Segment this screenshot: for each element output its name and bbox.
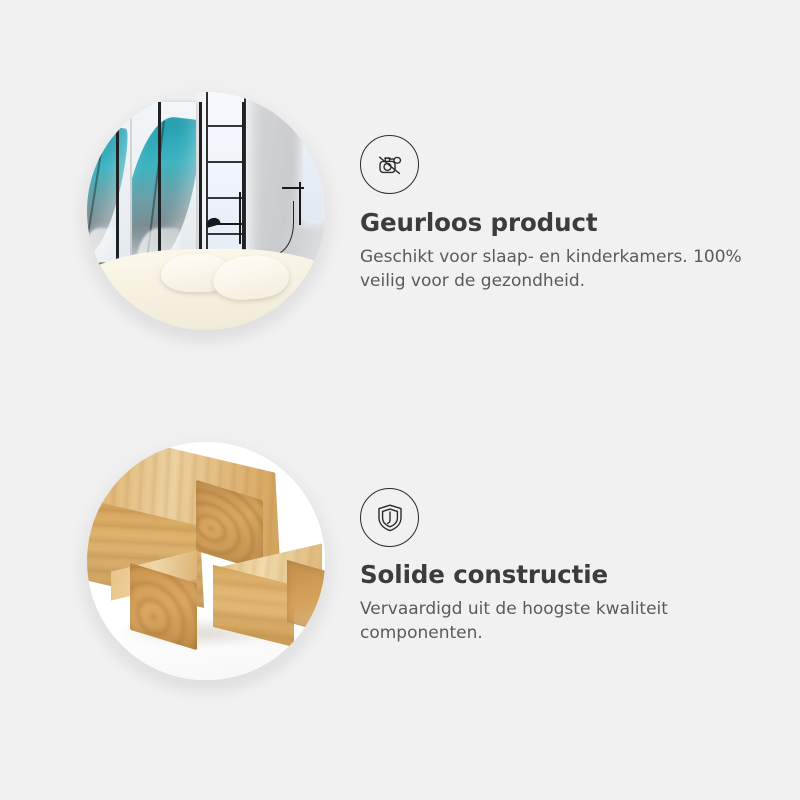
wall-lamp-stem (299, 182, 301, 225)
feature-image-bedroom (87, 92, 325, 330)
wall-lamp-stem (239, 192, 241, 244)
bedroom-window (206, 92, 246, 273)
no-fragrance-perfume-bottle-icon (360, 135, 419, 194)
circular-photo-mask (87, 92, 325, 330)
feature-image-wood-blocks (87, 442, 325, 680)
feature-block-solide-constructie: Solide constructie Vervaardigd uit de ho… (0, 400, 800, 760)
wood-blocks-scene (87, 442, 325, 680)
wooden-beam-right-end (287, 560, 325, 634)
shield-icon (360, 488, 419, 547)
feature-description: Vervaardigd uit de hoogste kwaliteit com… (360, 597, 745, 645)
bedroom-scene (87, 92, 325, 330)
feature-block-geurloos-product: Geurloos product Geschikt voor slaap- en… (0, 50, 800, 410)
feature-title: Solide constructie (360, 562, 608, 589)
feature-title: Geurloos product (360, 210, 598, 237)
wall-lamp-arm (211, 223, 242, 225)
feature-description: Geschikt voor slaap- en kinderkamers. 10… (360, 245, 745, 293)
circular-photo-mask (87, 442, 325, 680)
